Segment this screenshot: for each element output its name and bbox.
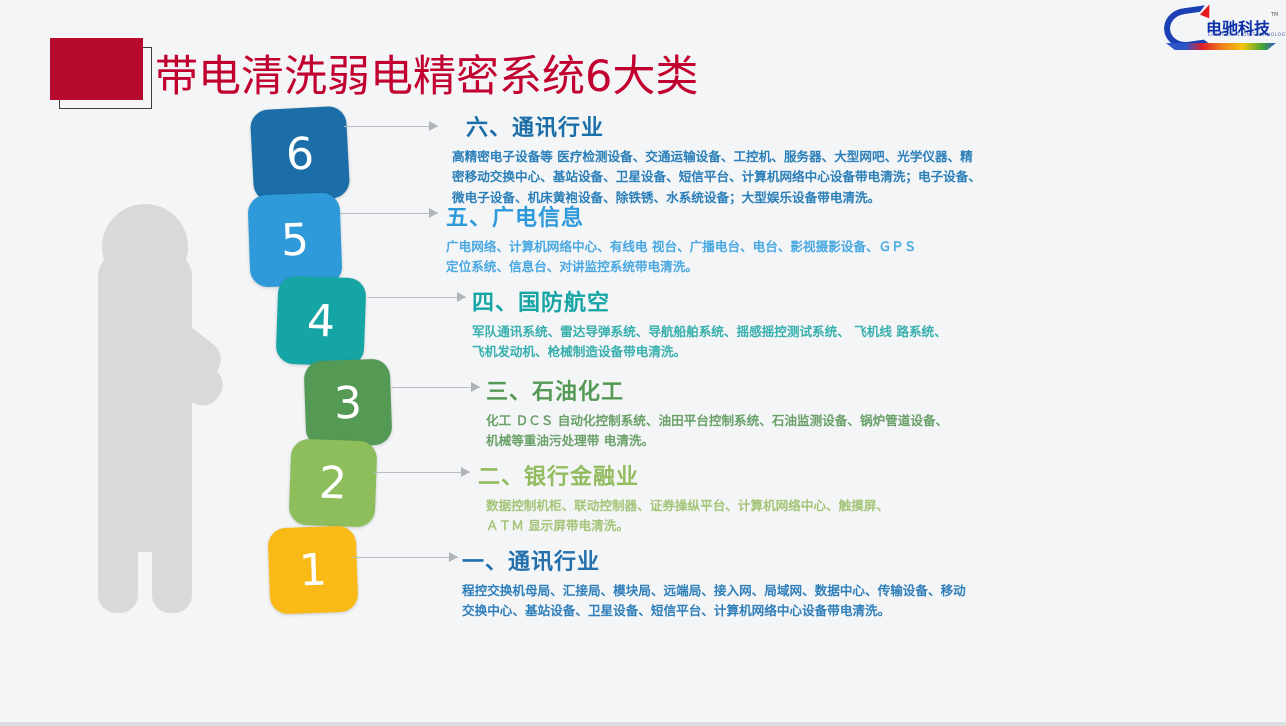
arrow-line [390,387,480,388]
section-2-line-1: 数据控制机柜、联动控制器、证券操纵平台、计算机网络中心、触摸屏、 [486,496,889,516]
logo-rainbow-underline [1166,43,1276,50]
tile-3-number: 3 [333,377,363,429]
connector-arrow-4 [368,292,466,302]
section-4-line-2: 飞机发动机、枪械制造设备带电清洗。 [472,342,947,362]
arrow-head [429,121,438,131]
arrow-head [429,208,438,218]
tile-4-number: 4 [306,295,336,347]
section-1: 一、通讯行业 程控交换机母局、汇接局、模块局、远端局、接入网、局域网、数据中心、… [462,544,966,622]
tile-5-number: 5 [280,214,310,266]
section-1-heading: 一、通讯行业 [462,544,966,576]
section-5-line-2: 定位系统、信息台、对讲监控系统带电清洗。 [446,257,916,277]
slide-canvas: 电驰科技 ELECTRICAL ON TECHNOLOGY TM 带电清洗弱电精… [0,0,1286,726]
section-3-heading: 三、石油化工 [486,374,948,406]
section-2-heading: 二、银行金融业 [478,459,889,491]
section-4: 四、国防航空 军队通讯系统、雷达导弹系统、导航船舶系统、摇感摇控测试系统、 飞机… [472,285,947,363]
section-4-body: 军队通讯系统、雷达导弹系统、导航船舶系统、摇感摇控测试系统、 飞机线 路系统、 … [472,322,947,363]
tile-4[interactable]: 4 [275,275,366,366]
company-logo: 电驰科技 ELECTRICAL ON TECHNOLOGY TM [1160,2,1282,52]
section-4-line-1: 军队通讯系统、雷达导弹系统、导航船舶系统、摇感摇控测试系统、 飞机线 路系统、 [472,322,947,342]
section-4-heading: 四、国防航空 [472,285,947,317]
tile-6-number: 6 [285,128,316,180]
section-2: 二、银行金融业 数据控制机柜、联动控制器、证券操纵平台、计算机网络中心、触摸屏、… [478,459,889,537]
section-5-body: 广电网络、计算机网络中心、有线电 视台、广播电台、电台、影视摄影设备、ＧＰＳ 定… [446,237,916,278]
arrow-line [368,297,466,298]
arrow-line [352,557,458,558]
arrow-head [461,467,470,477]
section-6-body: 高精密电子设备等 医疗检测设备、交通运输设备、工控机、服务器、大型网吧、光学仪器… [452,147,981,208]
connector-arrow-1 [352,552,458,562]
connector-arrow-5 [340,208,438,218]
logo-trademark: TM [1271,12,1278,18]
tile-5[interactable]: 5 [247,192,342,287]
connector-arrow-2 [374,467,470,477]
section-2-body: 数据控制机柜、联动控制器、证券操纵平台、计算机网络中心、触摸屏、 ＡＴＭ 显示屏… [478,496,889,537]
section-3-line-2: 机械等重油污处理带 电清洗。 [486,431,948,451]
page-title: 带电清洗弱电精密系统6大类 [155,42,698,104]
section-3-line-1: 化工 ＤＣＳ 自动化控制系统、油田平台控制系统、石油监测设备、锅炉管道设备、 [486,411,948,431]
section-6: 六、通讯行业 高精密电子设备等 医疗检测设备、交通运输设备、工控机、服务器、大型… [452,110,981,208]
title-accent-square [50,38,143,100]
connector-arrow-3 [390,382,480,392]
section-6-heading: 六、通讯行业 [452,110,981,142]
section-1-body: 程控交换机母局、汇接局、模块局、远端局、接入网、局域网、数据中心、传输设备、移动… [462,581,966,622]
section-1-line-2: 交换中心、基站设备、卫星设备、短信平台、计算机网络中心设备带电清洗。 [462,601,966,621]
arrow-line [374,472,470,473]
tile-1-number: 1 [298,544,328,596]
tile-1[interactable]: 1 [268,525,359,614]
section-1-line-1: 程控交换机母局、汇接局、模块局、远端局、接入网、局域网、数据中心、传输设备、移动 [462,581,966,601]
arrow-line [340,213,438,214]
arrow-head [457,292,466,302]
section-2-line-2: ＡＴＭ 显示屏带电清洗。 [486,516,889,536]
section-6-line-2: 密移动交换中心、基站设备、卫星设备、短信平台、计算机网络中心设备带电清洗；电子设… [452,167,981,187]
tile-6[interactable]: 6 [250,106,351,203]
section-6-line-1: 高精密电子设备等 医疗检测设备、交通运输设备、工控机、服务器、大型网吧、光学仪器… [452,147,981,167]
tile-3[interactable]: 3 [304,359,393,448]
section-5: 五、广电信息 广电网络、计算机网络中心、有线电 视台、广播电台、电台、影视摄影设… [446,200,916,278]
tile-2-number: 2 [318,457,348,509]
tile-2[interactable]: 2 [289,439,378,528]
logo-name-en: ELECTRICAL ON TECHNOLOGY [1208,33,1286,38]
section-5-line-1: 广电网络、计算机网络中心、有线电 视台、广播电台、电台、影视摄影设备、ＧＰＳ [446,237,916,257]
section-3-body: 化工 ＤＣＳ 自动化控制系统、油田平台控制系统、石油监测设备、锅炉管道设备、 机… [486,411,948,452]
section-5-heading: 五、广电信息 [446,200,916,232]
arrow-head [449,552,458,562]
connector-arrow-6 [344,121,438,131]
section-3: 三、石油化工 化工 ＤＣＳ 自动化控制系统、油田平台控制系统、石油监测设备、锅炉… [486,374,948,452]
arrow-head [471,382,480,392]
arrow-line [344,126,438,127]
